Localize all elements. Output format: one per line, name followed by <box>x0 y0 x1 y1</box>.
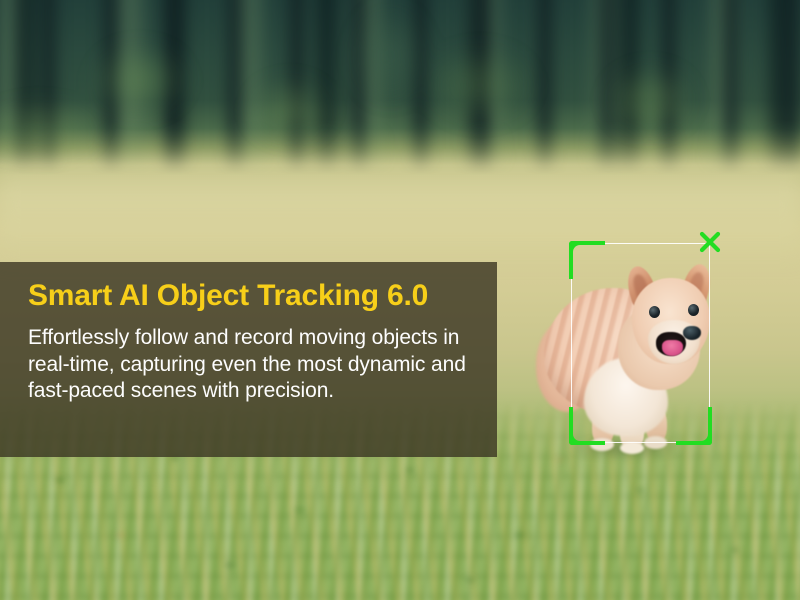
object-tracking-box[interactable] <box>571 243 710 443</box>
tracking-elbow-top-left <box>569 241 591 263</box>
description-text: Effortlessly follow and record moving ob… <box>28 325 468 405</box>
close-x-icon[interactable] <box>696 228 724 256</box>
page-title: Smart AI Object Tracking 6.0 <box>28 278 473 314</box>
tracking-elbow-bottom-right <box>690 423 712 445</box>
caption-panel: Smart AI Object Tracking 6.0 Effortlessl… <box>0 262 497 457</box>
dog-paw <box>620 442 644 454</box>
tracking-elbow-bottom-left <box>569 423 591 445</box>
grass-detail <box>0 440 800 600</box>
promo-banner: Smart AI Object Tracking 6.0 Effortlessl… <box>0 0 800 600</box>
